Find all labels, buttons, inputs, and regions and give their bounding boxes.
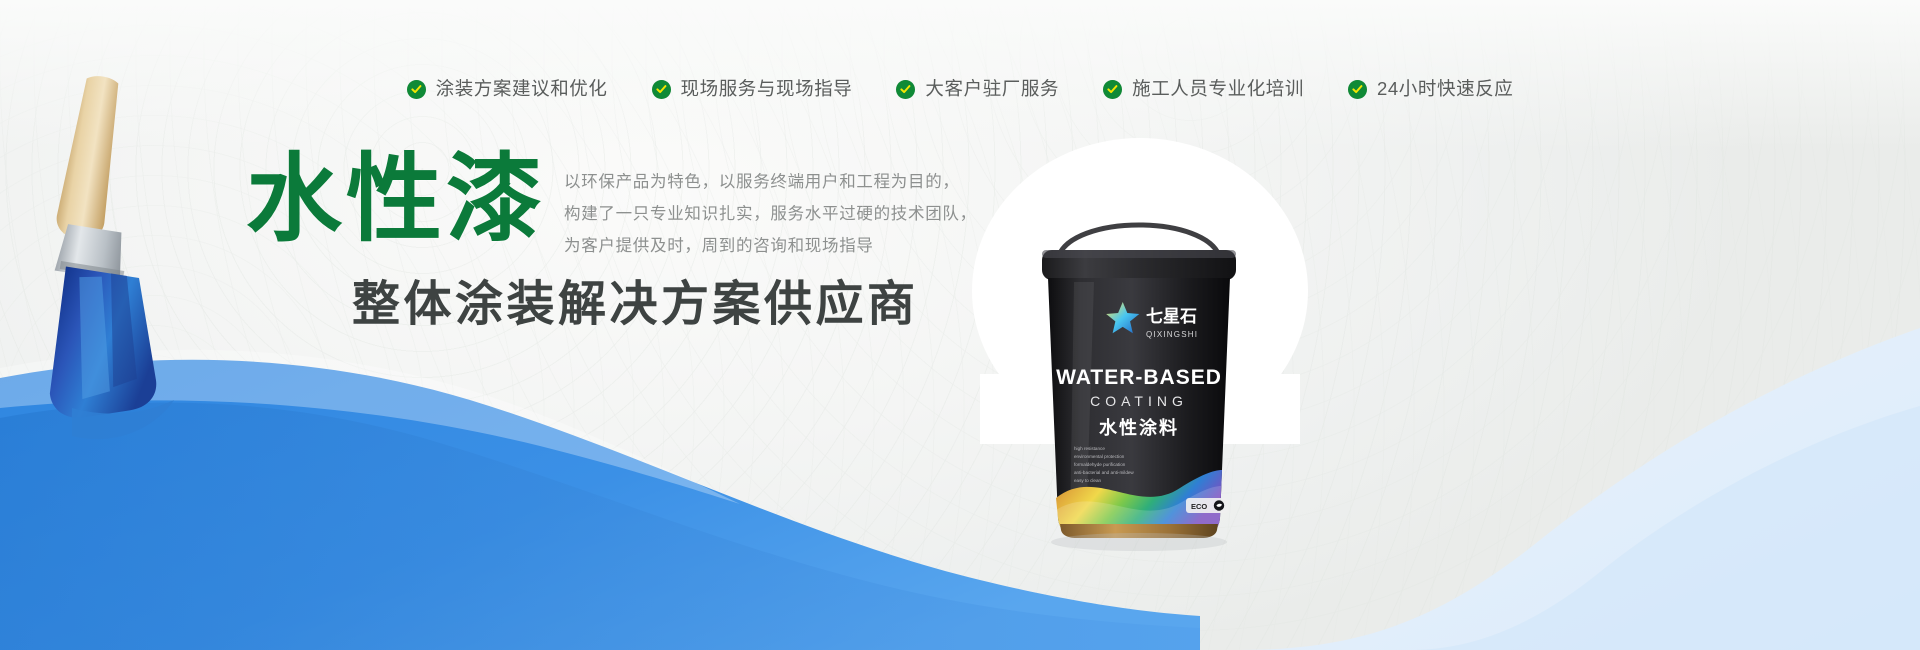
description-line: 构建了一只专业知识扎实，服务水平过硬的技术团队， (564, 204, 977, 225)
headline-description: 以环保产品为特色，以服务终端用户和工程为目的， 构建了一只专业知识扎实，服务水平… (564, 172, 977, 257)
check-circle-icon (896, 80, 915, 99)
paint-brush-icon (48, 70, 238, 470)
feature-label: 24小时快速反应 (1377, 80, 1513, 99)
page-title: 水性漆 (246, 152, 546, 248)
svg-text:formaldehyde purification: formaldehyde purification (1074, 462, 1126, 467)
page-subtitle: 整体涂装解决方案供应商 (352, 279, 986, 332)
svg-text:easy to clean: easy to clean (1074, 478, 1102, 483)
feature-label: 涂装方案建议和优化 (436, 80, 608, 99)
paint-bucket-image[interactable]: 七星石 QIXINGSHI WATER-BASED COATING 水性涂料 h… (1034, 198, 1244, 560)
feature-item[interactable]: 施工人员专业化培训 (1103, 80, 1304, 99)
svg-text:ECO: ECO (1191, 502, 1207, 511)
svg-text:high resistance: high resistance (1074, 446, 1105, 451)
feature-item[interactable]: 涂装方案建议和优化 (407, 80, 608, 99)
check-circle-icon (652, 80, 671, 99)
svg-text:anti-bacterial and anti-mildew: anti-bacterial and anti-mildew (1074, 470, 1134, 475)
svg-text:QIXINGSHI: QIXINGSHI (1146, 330, 1198, 339)
svg-text:environmental protection: environmental protection (1074, 454, 1125, 459)
svg-text:七星石: 七星石 (1146, 307, 1197, 327)
feature-item[interactable]: 24小时快速反应 (1348, 80, 1513, 99)
product-showcase: 七星石 QIXINGSHI WATER-BASED COATING 水性涂料 h… (972, 138, 1308, 444)
svg-text:WATER-BASED: WATER-BASED (1056, 366, 1222, 389)
feature-list: 涂装方案建议和优化 现场服务与现场指导 大客户驻厂服务 施工人员专业化培训 24 (0, 80, 1920, 99)
feature-item[interactable]: 现场服务与现场指导 (652, 80, 853, 99)
check-circle-icon (407, 80, 426, 99)
feature-label: 现场服务与现场指导 (681, 80, 853, 99)
feature-item[interactable]: 大客户驻厂服务 (896, 80, 1059, 99)
svg-text:COATING: COATING (1090, 393, 1188, 409)
description-line: 为客户提供及时，周到的咨询和现场指导 (564, 236, 977, 257)
promo-banner: 涂装方案建议和优化 现场服务与现场指导 大客户驻厂服务 施工人员专业化培训 24 (0, 0, 1920, 650)
description-line: 以环保产品为特色，以服务终端用户和工程为目的， (564, 172, 977, 193)
check-circle-icon (1348, 80, 1367, 99)
check-circle-icon (1103, 80, 1122, 99)
svg-text:水性涂料: 水性涂料 (1099, 417, 1179, 439)
feature-label: 施工人员专业化培训 (1132, 80, 1304, 99)
headline-block: 水性漆 以环保产品为特色，以服务终端用户和工程为目的， 构建了一只专业知识扎实，… (246, 152, 986, 332)
feature-label: 大客户驻厂服务 (925, 80, 1059, 99)
